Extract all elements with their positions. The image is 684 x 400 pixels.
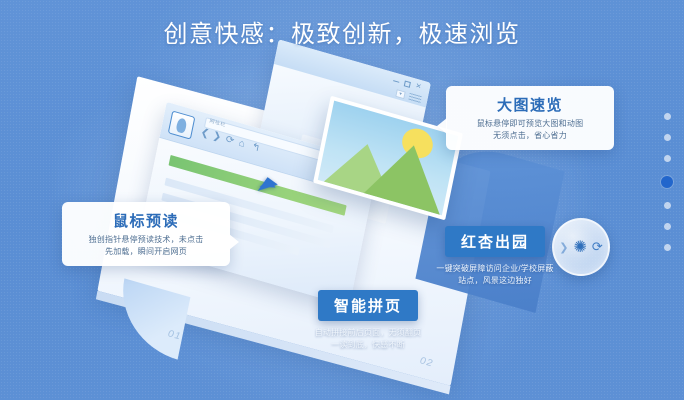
refresh-icon[interactable]: ⟳ [225,135,235,147]
pagination-dot-4[interactable] [661,176,673,188]
callout-line: 鼠标悬停即可预览大图和动图 [458,118,602,130]
forward-icon[interactable]: ❯ [212,131,222,143]
callout-big-image-preview: 大图速览 鼠标悬停即可预览大图和动图 无须点击，省心省力 [446,86,614,150]
callout-heading: 智能拼页 [318,290,418,321]
callout-line: 无须点击，省心省力 [458,130,602,142]
callout-description: 独创指针悬停预读技术，未点击 先加载，瞬间开启网页 [74,234,218,257]
callout-bubble: 大图速览 鼠标悬停即可预览大图和动图 无须点击，省心省力 [446,86,614,150]
callout-hongxing-chuyuan: 红杏出园 一键突破屏障访问企业/学校屏蔽 站点，风景这边独好 [406,226,584,287]
callout-heading: 大图速览 [458,94,602,115]
pagination-dot-1[interactable] [664,113,671,120]
callout-line: 先加载，瞬间开启网页 [74,246,218,258]
back-icon[interactable]: ❮ [200,128,210,140]
callout-mouse-preread: 鼠标预读 独创指针悬停预读技术，未点击 先加载，瞬间开启网页 [62,202,230,266]
callout-line: 独创指针悬停预读技术，未点击 [74,234,218,246]
page-title: 创意快感：极致创新，极速浏览 [0,14,684,49]
minimize-icon[interactable] [393,77,400,82]
callout-description: 一键突破屏障访问企业/学校屏蔽 站点，风景这边独好 [406,263,584,287]
callout-bubble: 鼠标预读 独创指针悬停预读技术，未点击 先加载，瞬间开启网页 [62,202,230,266]
pagination-dot-2[interactable] [664,134,671,141]
callout-heading: 鼠标预读 [74,210,218,231]
callout-line: 一键突破屏障访问企业/学校屏蔽 [406,263,584,275]
pagination-dot-7[interactable] [664,244,671,251]
pagination-dots[interactable] [661,113,673,251]
maximize-icon[interactable] [404,80,411,87]
pagination-dot-5[interactable] [664,202,671,209]
callout-description: 自动拼接前后页面，无须翻页 一读到底，快感不断 [276,327,460,351]
callout-chip-wrap: 红杏出园 [406,226,584,257]
callout-smart-page-stitch: 智能拼页 自动拼接前后页面，无须翻页 一读到底，快感不断 [276,290,460,351]
callout-heading: 红杏出园 [445,226,545,257]
refresh-lens-icon: ⟳ [592,239,603,255]
pagination-dot-3[interactable] [664,155,671,162]
callout-line: 站点，风景这边独好 [406,275,584,287]
pagination-dot-6[interactable] [664,223,671,230]
callout-chip-wrap: 智能拼页 [276,290,460,321]
callout-line: 一读到底，快感不断 [276,339,460,351]
callout-description: 鼠标悬停即可预览大图和动图 无须点击，省心省力 [458,118,602,141]
close-icon[interactable]: ✕ [415,84,422,91]
browser-logo-icon [168,110,196,139]
home-icon[interactable]: ⌂ [238,139,246,150]
callout-line: 自动拼接前后页面，无须翻页 [276,327,460,339]
share-icon[interactable]: ↰ [251,142,261,154]
browser-titlebar-back: ✕ [274,39,431,107]
